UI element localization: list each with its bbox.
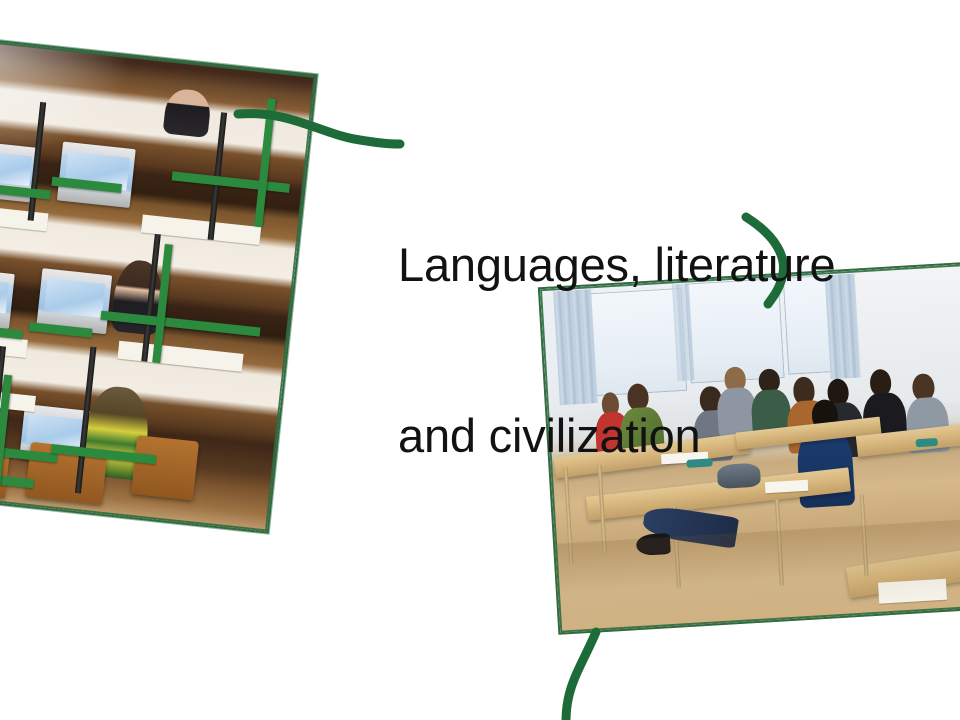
- page-title: Languages, literature and civilization: [398, 122, 835, 578]
- photo-green-rim: [0, 39, 316, 531]
- page-title-line-2: and civilization: [398, 407, 835, 464]
- photo-library-computer-room[interactable]: [0, 37, 318, 534]
- slide-canvas: Languages, literature and civilization: [0, 0, 960, 720]
- page-title-line-1: Languages, literature: [398, 236, 835, 293]
- connector-classroom-to-next: [566, 632, 596, 720]
